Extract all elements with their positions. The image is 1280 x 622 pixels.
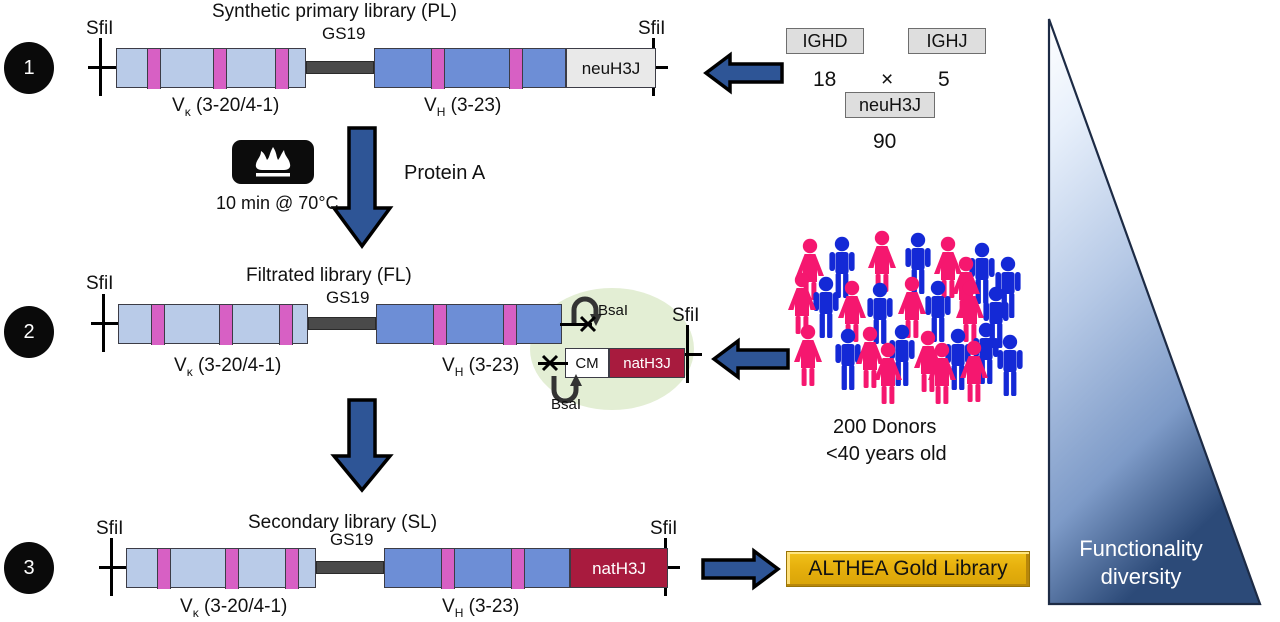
sfil-label-right-3: SfiI (650, 518, 677, 540)
sfil-cross-left-1 (88, 66, 116, 69)
segment-neuh3j-1: neuH3J (566, 48, 656, 88)
domain-label-vkappa-2: Vκ (3-20/4-1) (174, 355, 281, 379)
linker-label-3: GS19 (330, 530, 373, 550)
domain-label-vkappa-1: Vκ (3-20/4-1) (172, 95, 279, 119)
donor-age-label: <40 years old (826, 443, 947, 466)
domain-detail: (3-20/4-1) (199, 596, 288, 617)
cdr-band (433, 305, 447, 345)
segment-vh-2 (376, 304, 562, 344)
cdr-band (151, 305, 165, 345)
domain-letter: V (442, 596, 455, 617)
functionality-diversity-triangle (1046, 16, 1266, 608)
heat-caption: 10 min @ 70°C (216, 193, 339, 214)
construct-filtrated-library (118, 304, 558, 344)
donor-count-label: 200 Donors (833, 416, 936, 439)
gene-box-neuh3j: neuH3J (845, 92, 935, 118)
linker-label-2: GS19 (326, 288, 369, 308)
construct-primary-library: neuH3J (116, 48, 656, 88)
step-title-1: Synthetic primary library (PL) (212, 1, 457, 23)
segment-nath3j-3: natH3J (570, 548, 668, 588)
cdr-band (279, 305, 293, 345)
cdr-band (511, 549, 525, 589)
domain-detail: (3-20/4-1) (191, 95, 280, 116)
cdr-band (213, 49, 227, 89)
gene-box-label: IGHD (803, 32, 848, 50)
triangle-caption: Functionality diversity (1050, 535, 1232, 590)
linker-gs19-3 (316, 561, 384, 574)
arrow-left-genes (704, 52, 784, 94)
sfil-cross-left-2 (91, 322, 119, 325)
domain-detail: (3-23) (463, 355, 519, 376)
domain-letter: V (172, 95, 185, 116)
flame-glyph (247, 145, 299, 179)
protein-a-label: Protein A (404, 162, 485, 185)
step-badge-1: 1 (4, 42, 54, 94)
domain-letter: V (174, 355, 187, 376)
domain-detail: (3-20/4-1) (193, 355, 282, 376)
cdr-band (225, 549, 239, 589)
gene-count-ighd: 18 (813, 68, 836, 92)
arrow-down-protein-a (330, 126, 394, 248)
gene-box-ighj: IGHJ (908, 28, 986, 54)
cdr-band (147, 49, 161, 89)
segment-vh-3 (384, 548, 570, 588)
arrow-down-to-secondary (330, 398, 394, 492)
bsai-label-bottom: BsaI (551, 396, 581, 413)
step-number: 3 (23, 558, 34, 578)
cdr-band (441, 549, 455, 589)
domain-label-vh-2: VH (3-23) (442, 355, 519, 379)
segment-label: natH3J (610, 349, 684, 377)
step-number: 1 (23, 58, 34, 78)
step-badge-3: 3 (4, 542, 54, 594)
domain-detail: (3-23) (445, 95, 501, 116)
domain-letter: V (180, 596, 193, 617)
cdr-band (285, 549, 299, 589)
segment-vkappa-3 (126, 548, 316, 588)
domain-label-vh-1: VH (3-23) (424, 95, 501, 119)
gene-count-neuh3j: 90 (873, 130, 896, 154)
donor-crowd (770, 228, 1026, 414)
segment-nath3j-2: natH3J (609, 348, 685, 378)
linker-gs19-1 (306, 61, 374, 74)
bsai-label-top: BsaI (598, 302, 628, 319)
domain-detail: (3-23) (463, 596, 519, 617)
step-title-2: Filtrated library (FL) (246, 265, 412, 287)
cdr-band (275, 49, 289, 89)
bsai-cut-x-bottom (540, 353, 562, 373)
gene-box-label: IGHJ (926, 32, 967, 50)
sfil-label-left-1: SfiI (86, 18, 113, 40)
segment-vkappa-2 (118, 304, 308, 344)
gene-operator: × (881, 68, 893, 92)
cdr-band (157, 549, 171, 589)
step-badge-2: 2 (4, 306, 54, 358)
sfil-label-left-3: SfiI (96, 518, 123, 540)
segment-label: CM (566, 349, 608, 377)
arrow-right-output (700, 548, 780, 590)
gene-box-ighd: IGHD (786, 28, 864, 54)
gene-box-label: neuH3J (859, 96, 921, 114)
linker-label-1: GS19 (322, 24, 365, 44)
domain-letter: V (424, 95, 437, 116)
domain-letter: V (442, 355, 455, 376)
sfil-label-right-1: SfiI (638, 18, 665, 40)
figure-canvas: 1 Synthetic primary library (PL) SfiI Sf… (0, 0, 1280, 622)
flame-icon (232, 140, 314, 184)
segment-label: natH3J (571, 549, 667, 587)
sfil-cross-left-3 (99, 566, 127, 569)
construct-secondary-library: natH3J (126, 548, 668, 588)
linker-gs19-2 (308, 317, 376, 330)
domain-label-vkappa-3: Vκ (3-20/4-1) (180, 596, 287, 620)
sfil-label-left-2: SfiI (86, 273, 113, 295)
gene-count-ighj: 5 (938, 68, 950, 92)
cdr-band (509, 49, 523, 89)
banner-label: ALTHEA Gold Library (808, 557, 1007, 581)
cdr-band (503, 305, 517, 345)
cdr-band (219, 305, 233, 345)
sfil-label-right-2: SfiI (672, 305, 699, 327)
segment-label: neuH3J (567, 49, 655, 87)
althea-gold-library-banner: ALTHEA Gold Library (786, 551, 1030, 587)
cdr-band (431, 49, 445, 89)
domain-label-vh-3: VH (3-23) (442, 596, 519, 620)
segment-vkappa-1 (116, 48, 306, 88)
bsai-cut-x-top (578, 314, 600, 334)
step-number: 2 (23, 322, 34, 342)
segment-vh-1 (374, 48, 566, 88)
